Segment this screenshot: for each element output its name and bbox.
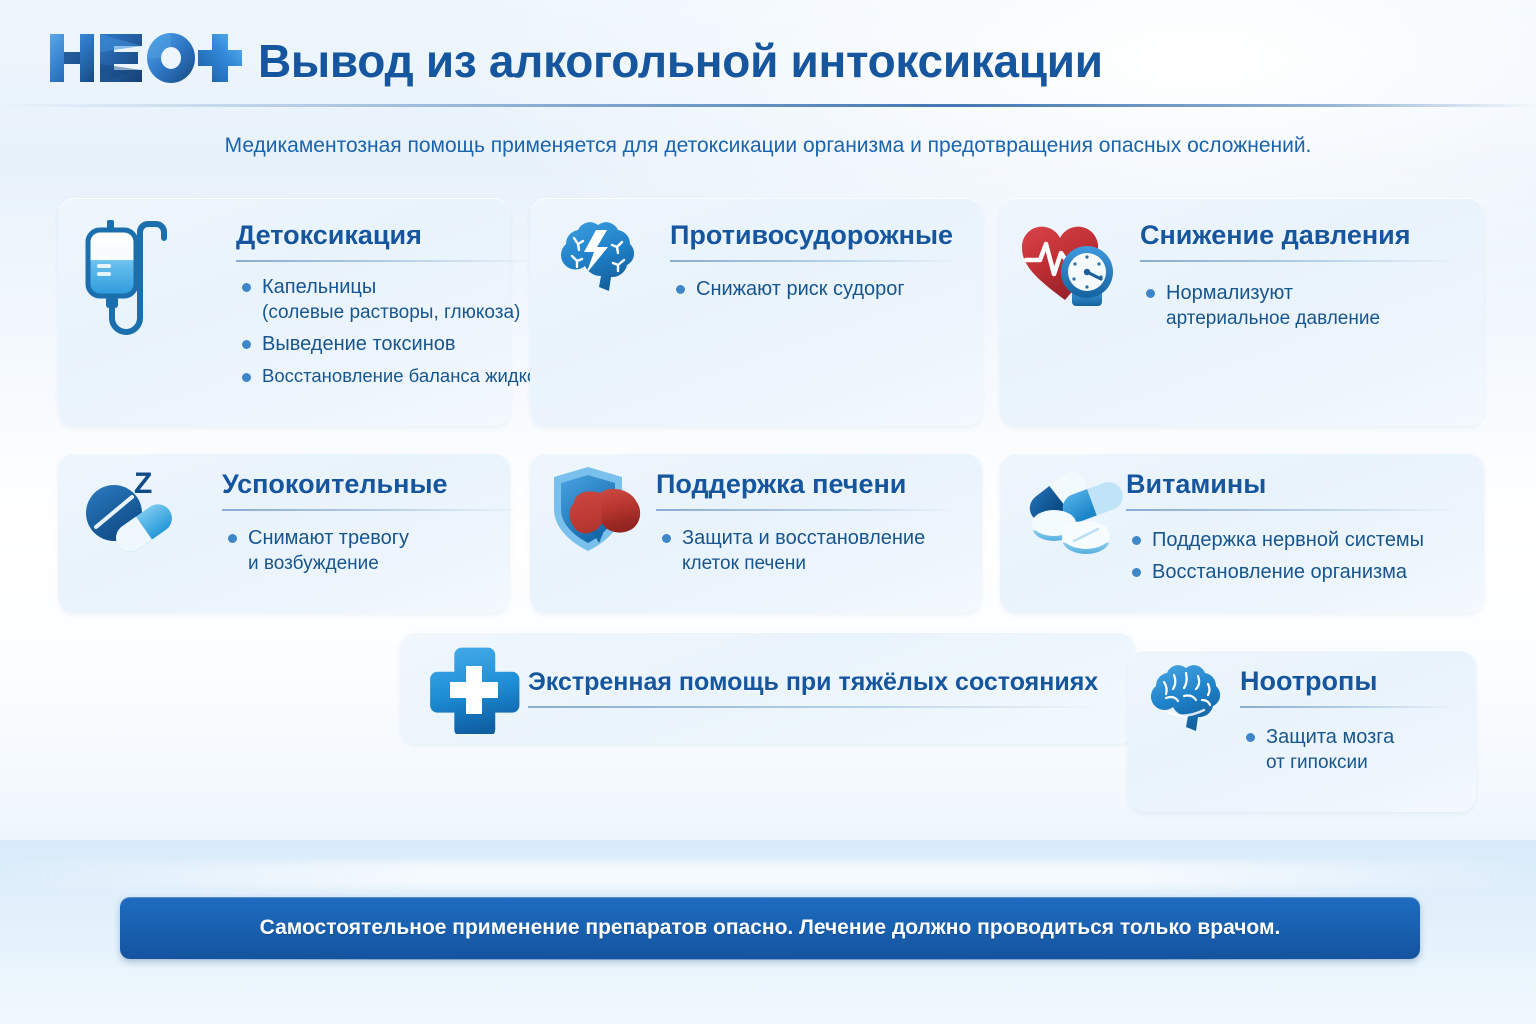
- card-title: Противосудорожные: [670, 220, 953, 251]
- card-detox[interactable]: Детоксикация Капельницы (солевые раствор…: [58, 198, 510, 426]
- bullet-text: Снижают риск судорог: [696, 278, 905, 300]
- card-title-rule: [1126, 509, 1456, 511]
- card-vitamins[interactable]: Витамины Поддержка нервной системы Восст…: [1000, 453, 1484, 613]
- emergency-rule: [528, 706, 1103, 708]
- list-item: Нормализуют артериальное давление: [1140, 280, 1470, 331]
- card-pressure[interactable]: Снижение давления Нормализуют артериальн…: [1000, 198, 1484, 426]
- card-title-rule: [1240, 706, 1455, 708]
- emergency-title: Экстренная помощь при тяжёлых состояниях: [528, 668, 1098, 697]
- bullet-subtext: артериальное давление: [1166, 306, 1470, 331]
- list-item: Восстановление баланса жидкости: [236, 364, 566, 388]
- list-item: Выведение токсинов: [236, 331, 566, 357]
- bullet-subtext: клеток печени: [682, 551, 976, 576]
- bullet-text: Защита и восстановление: [682, 527, 925, 549]
- card-nootropics[interactable]: Ноотропы Защита мозга от гипоксии: [1128, 650, 1476, 812]
- bullet-text: Выведение токсинов: [262, 333, 456, 355]
- svg-text:Z: Z: [134, 467, 152, 500]
- page-header: Вывод из алкогольной интоксикации: [0, 0, 1536, 112]
- card-title: Снижение давления: [1140, 220, 1411, 251]
- bullet-text: Восстановление организма: [1152, 561, 1407, 583]
- card-title-rule: [670, 260, 960, 262]
- card-title: Детоксикация: [236, 220, 422, 251]
- list-item: Восстановление организма: [1126, 559, 1476, 585]
- card-emergency-help[interactable]: Экстренная помощь при тяжёлых состояниях: [400, 632, 1135, 744]
- footer-warning-banner: Самостоятельное применение препаратов оп…: [120, 897, 1420, 959]
- list-item: Снимают тревогу и возбуждение: [222, 525, 522, 576]
- list-item: Поддержка нервной системы: [1126, 527, 1476, 553]
- bullet-text: Нормализуют: [1166, 282, 1293, 304]
- capsules-tablets-icon: [1014, 463, 1130, 563]
- bullet-subtext: и возбуждение: [248, 551, 522, 576]
- heart-pressure-gauge-icon: [1018, 216, 1128, 316]
- header-divider: [0, 104, 1536, 107]
- iv-drip-icon: [80, 218, 190, 338]
- neo-plus-logo: [48, 28, 248, 90]
- bullet-text: Защита мозга: [1266, 726, 1394, 748]
- list-item: Защита и восстановление клеток печени: [656, 525, 976, 576]
- card-title: Витамины: [1126, 469, 1266, 500]
- brain-icon: [1142, 660, 1234, 748]
- bullet-text: Капельницы: [262, 276, 376, 298]
- list-item: Капельницы (солевые растворы, глюкоза): [236, 274, 566, 325]
- card-title-rule: [236, 260, 536, 262]
- bullet-text: Восстановление баланса жидкости: [262, 365, 565, 386]
- card-title-rule: [1140, 260, 1460, 262]
- card-title: Поддержка печени: [656, 469, 906, 500]
- bullet-text: Поддержка нервной системы: [1152, 529, 1424, 551]
- card-title-rule: [222, 509, 522, 511]
- bullet-subtext: от гипоксии: [1266, 750, 1465, 775]
- shield-liver-icon: [544, 463, 652, 563]
- card-title: Успокоительные: [222, 469, 448, 500]
- card-sedative[interactable]: Z Успокоительные Снимают тревогу и возбу…: [58, 453, 510, 613]
- band-sheen: [0, 862, 1536, 888]
- page-subtitle: Медикаментозная помощь применяется для д…: [0, 134, 1536, 158]
- brain-lightning-icon: [550, 218, 646, 310]
- card-title-rule: [656, 509, 956, 511]
- footer-warning-text: Самостоятельное применение препаратов оп…: [260, 916, 1281, 940]
- bullet-subtext: (солевые растворы, глюкоза): [262, 300, 566, 325]
- list-item: Снижают риск судорог: [670, 276, 970, 302]
- pill-capsule-sleep-icon: Z: [76, 465, 186, 561]
- bullet-text: Снимают тревогу: [248, 527, 409, 549]
- page-title: Вывод из алкогольной интоксикации: [258, 34, 1103, 88]
- infographic-stage: Вывод из алкогольной интоксикации Медика…: [0, 0, 1536, 1024]
- medical-cross-icon: [428, 642, 520, 734]
- card-liver[interactable]: Поддержка печени Защита и восстановление…: [530, 453, 982, 613]
- list-item: Защита мозга от гипоксии: [1240, 724, 1465, 775]
- card-title: Ноотропы: [1240, 666, 1377, 697]
- card-anticonvulsant[interactable]: Противосудорожные Снижают риск судорог: [530, 198, 982, 426]
